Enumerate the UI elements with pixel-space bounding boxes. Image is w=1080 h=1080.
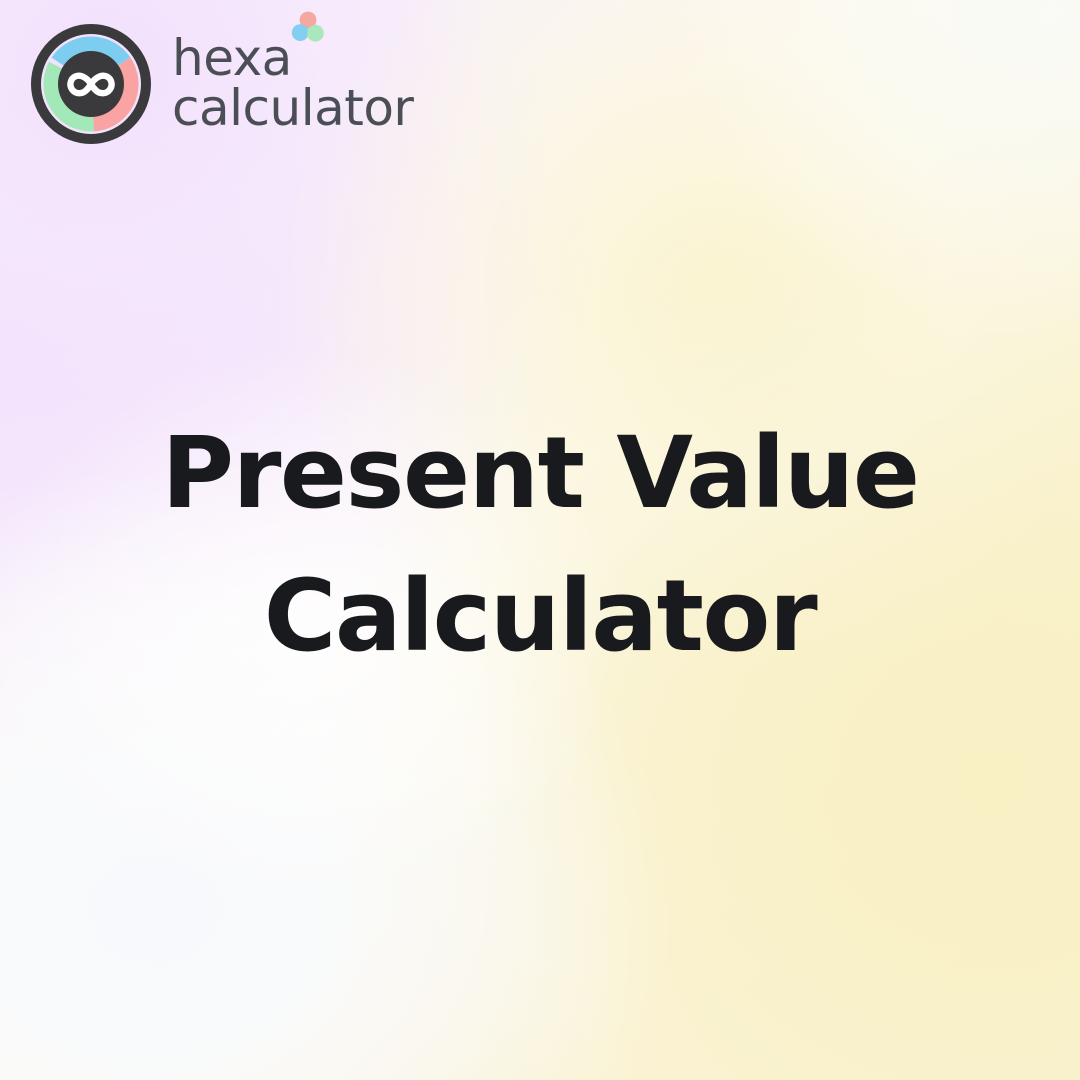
page-title: Present Value Calculator (0, 403, 1080, 688)
brand-wordmark-line-hexa: hexa (172, 34, 292, 84)
brand-wordmark-line-calculator: calculator (172, 84, 413, 134)
page-title-line-2: Calculator (60, 546, 1020, 689)
three-overlapping-dots-icon (291, 11, 325, 43)
brand-wordmark: hexa calculator (172, 24, 413, 133)
brand-lockup[interactable]: hexa calculator (31, 24, 413, 144)
page-title-line-1: Present Value (60, 403, 1020, 546)
hexa-infinity-ring-logo-icon (31, 24, 151, 144)
poster-canvas: hexa calculator Present Value Calculator (0, 0, 1080, 1080)
